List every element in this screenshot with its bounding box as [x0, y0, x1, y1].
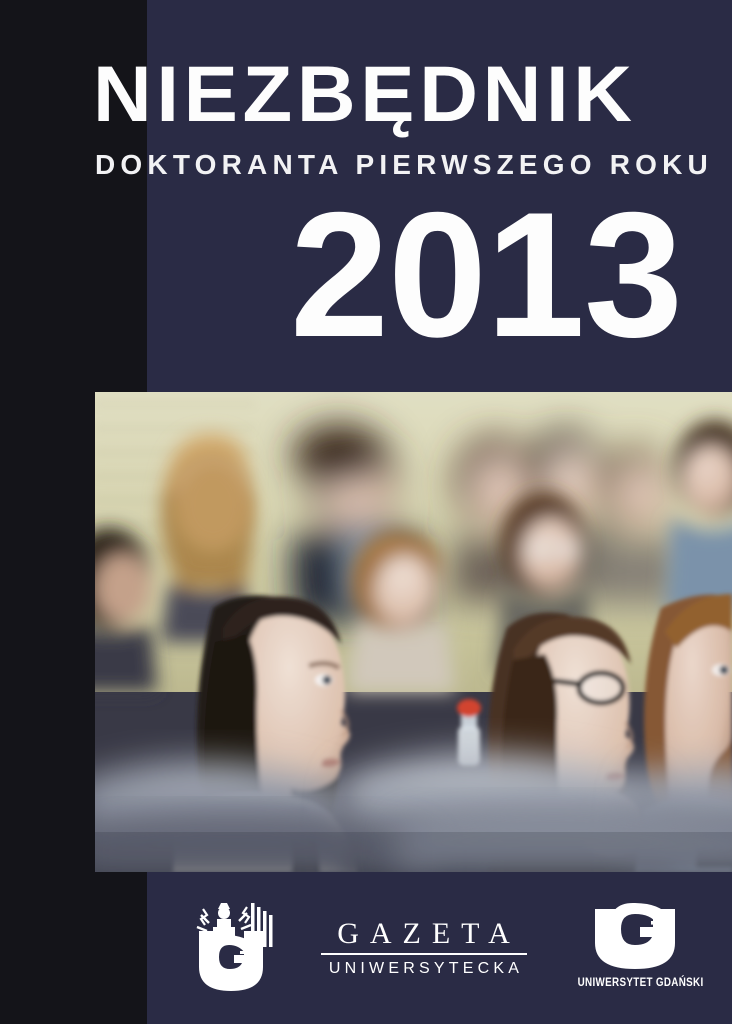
ug-monogram-icon	[565, 899, 705, 973]
audience-photo-illustration	[95, 392, 732, 872]
gazeta-uniwersytecka-logo: GAZETA UNIWERSYTECKA	[319, 917, 529, 978]
uniwersytet-gdanski-logo: UNIWERSYTET GDAŃSKI	[565, 899, 705, 999]
logo-strip: GAZETA UNIWERSYTECKA UNIWERSYTET GDAŃSKI	[147, 893, 732, 1011]
book-cover: NIEZBĘDNIK DOKTORANTA PIERWSZEGO ROKU 20…	[0, 0, 732, 1024]
page-title: NIEZBĘDNIK	[93, 52, 701, 136]
ug-crest-icon	[185, 901, 281, 993]
cover-photograph	[95, 392, 732, 872]
gazeta-wordmark-line1: GAZETA	[319, 917, 529, 951]
gazeta-wordmark-line2: UNIWERSYTECKA	[319, 959, 529, 978]
year-label: 2013	[0, 185, 682, 365]
university-crest-logo	[185, 901, 281, 993]
gazeta-divider-rule	[321, 953, 527, 955]
uniwersytet-gdanski-label: UNIWERSYTET GDAŃSKI	[578, 975, 693, 989]
